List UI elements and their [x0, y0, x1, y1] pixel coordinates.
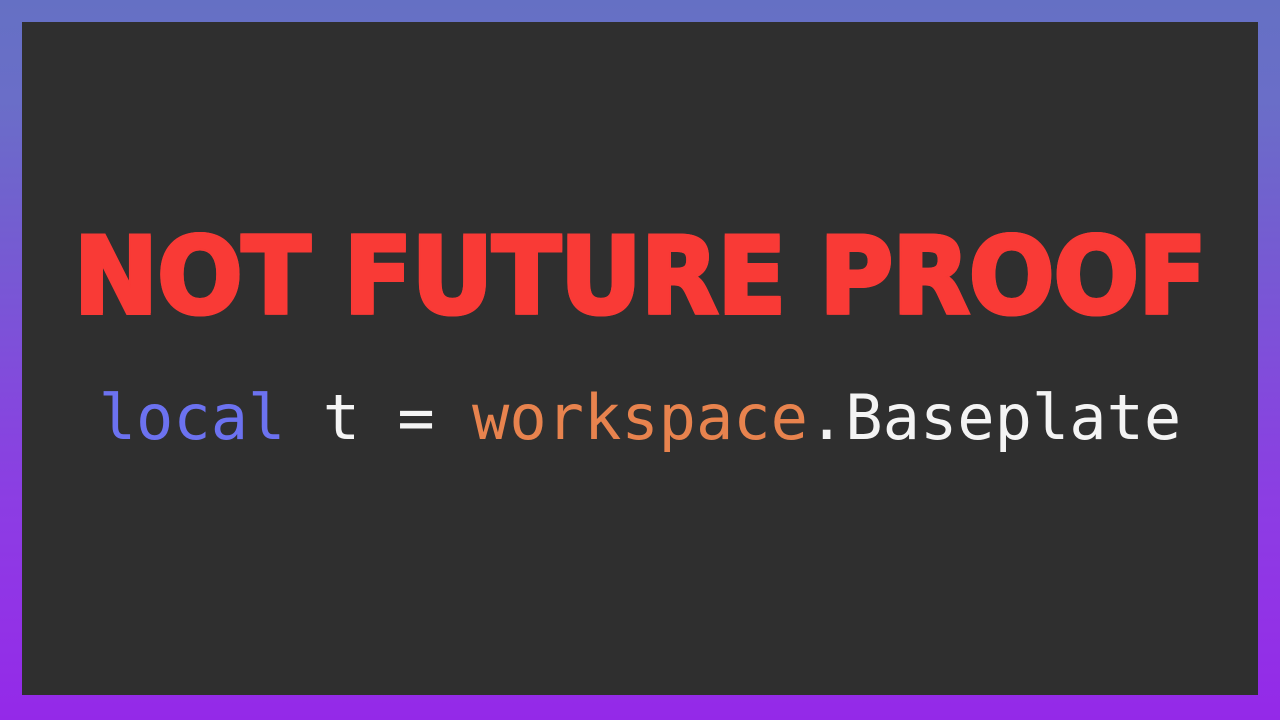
headline-text: NOT FUTURE PROOF — [74, 224, 1206, 330]
slide-stage: NOT FUTURE PROOF local t = workspace.Bas… — [22, 22, 1258, 695]
slide-frame: NOT FUTURE PROOF local t = workspace.Bas… — [0, 0, 1280, 720]
code-snippet-text: local t = workspace.Baseplate — [99, 387, 1182, 449]
code-token-keyword-local: local — [99, 381, 286, 454]
code-token-property-baseplate: Baseplate — [845, 381, 1181, 454]
headline: NOT FUTURE PROOF — [22, 218, 1258, 336]
code-snippet-line: local t = workspace.Baseplate — [22, 370, 1258, 466]
code-token-dot-operator: . — [808, 381, 845, 454]
code-token-variable-assignment: t = — [285, 381, 472, 454]
code-token-global-workspace: workspace — [472, 381, 808, 454]
